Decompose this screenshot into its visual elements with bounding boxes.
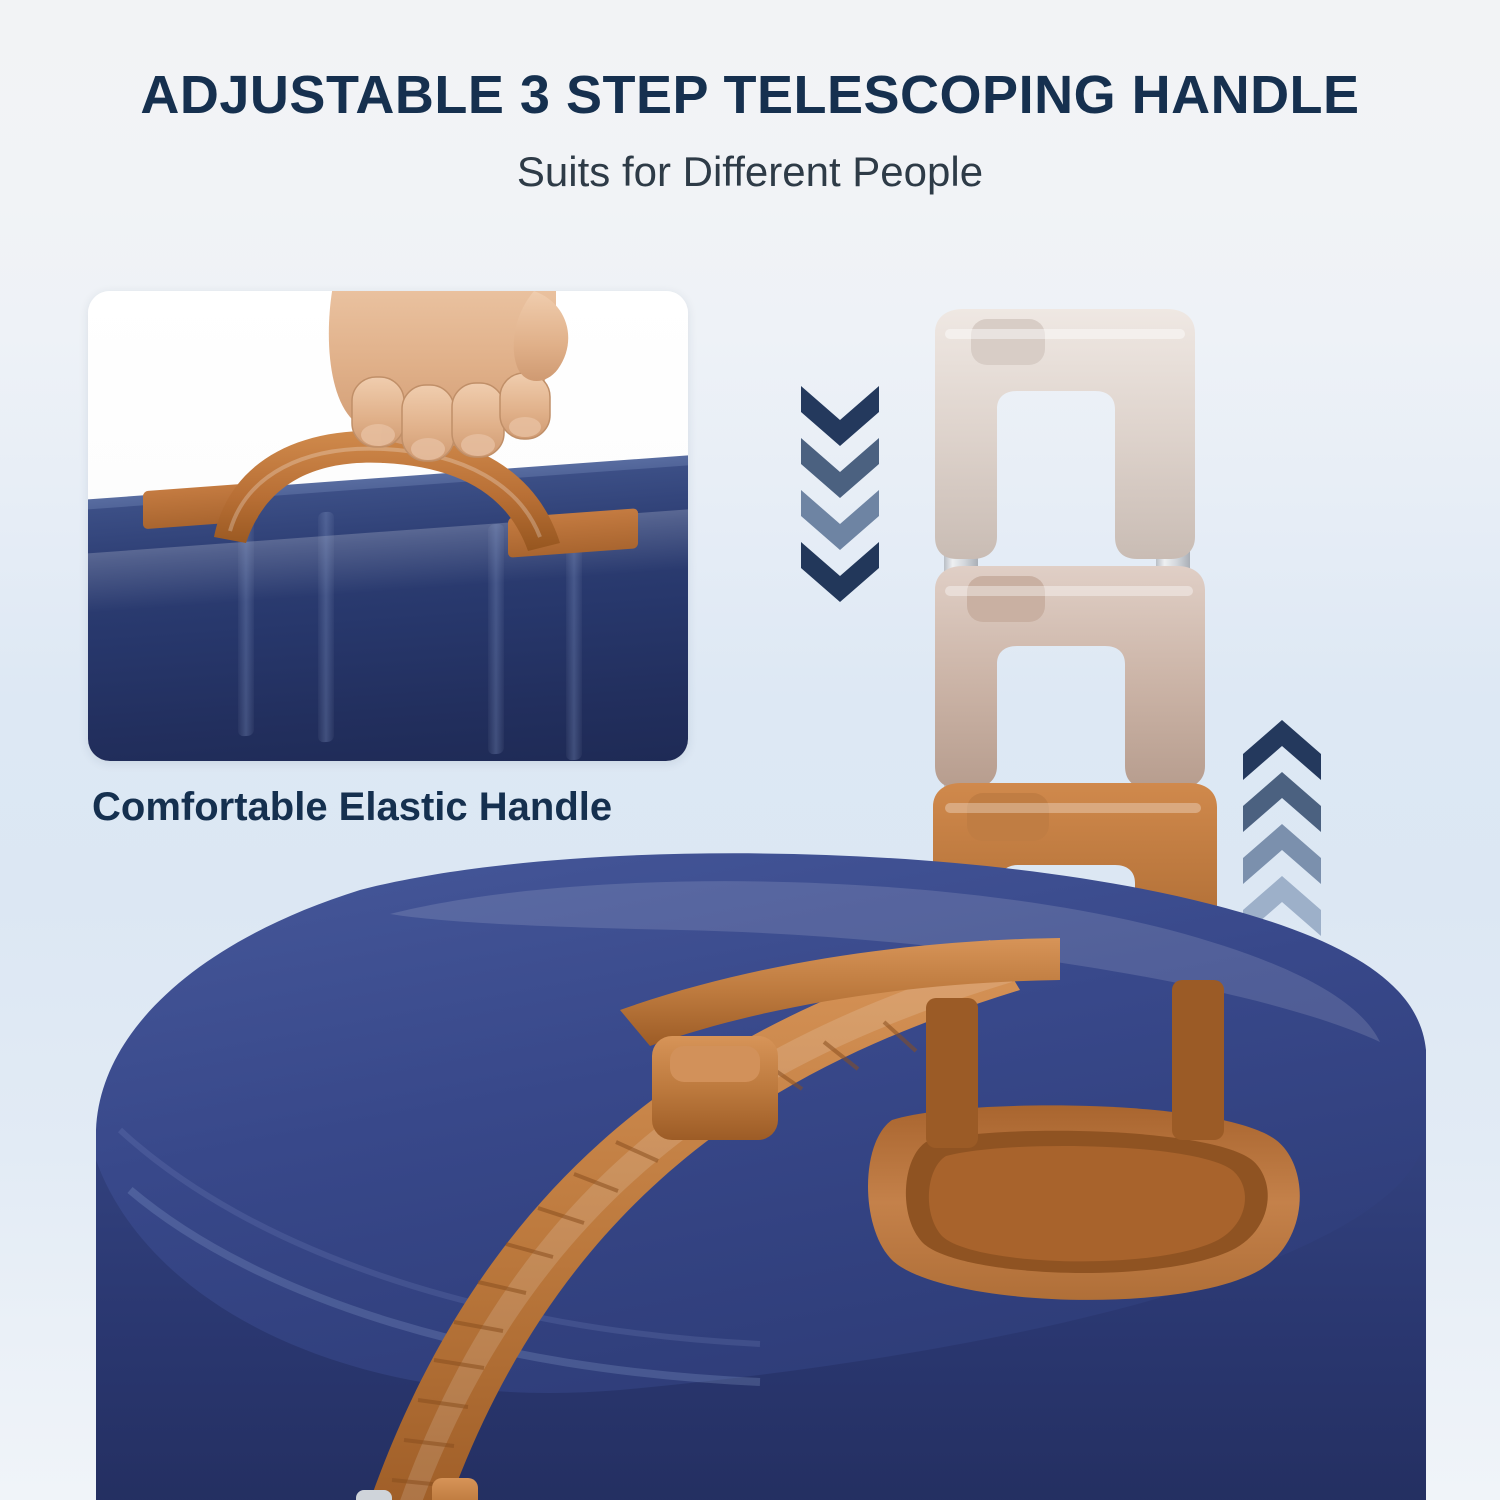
inset-caption: Comfortable Elastic Handle [92, 785, 612, 830]
handle-stage-2-middle [905, 560, 1235, 800]
inset-photo-elastic-handle [88, 291, 688, 761]
page-title: ADJUSTABLE 3 STEP TELESCOPING HANDLE [0, 64, 1500, 126]
suitcase-main [60, 830, 1480, 1500]
product-feature-graphic: ADJUSTABLE 3 STEP TELESCOPING HANDLE Sui… [0, 0, 1500, 1500]
page-subtitle: Suits for Different People [0, 148, 1500, 196]
inset-hand [306, 291, 586, 511]
handle-stage-1-highest [905, 305, 1225, 575]
inset-suitcase-ridge [566, 529, 582, 760]
chevron-down-arrow-stack [797, 382, 883, 608]
